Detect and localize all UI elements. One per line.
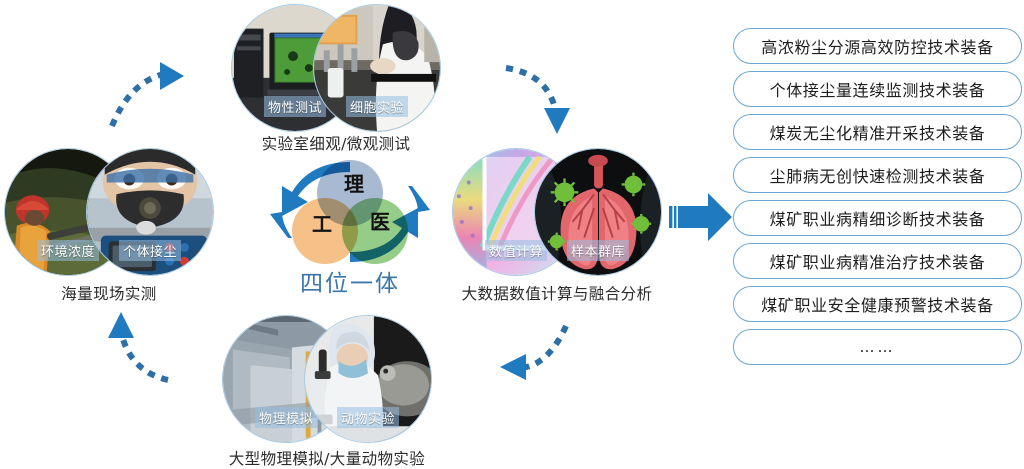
circle-photo-right[interactable]: 细胞实验 bbox=[313, 4, 441, 132]
arrow-lower-right-icon bbox=[492, 314, 612, 404]
cluster-lab-testing: 物性测试 bbox=[231, 4, 441, 134]
cluster-caption: 实验室细观/微观测试 bbox=[186, 132, 486, 154]
photo-pair: 物性测试 bbox=[231, 4, 441, 134]
output-item[interactable]: 煤炭无尘化精准开采技术装备 bbox=[733, 114, 1022, 150]
cluster-tag: 细胞实验 bbox=[346, 96, 408, 117]
cluster-physical-animal: 物理模拟 bbox=[222, 315, 432, 445]
cluster-caption: 大数据数值计算与融合分析 bbox=[407, 282, 707, 304]
cluster-caption: 海量现场实测 bbox=[0, 282, 259, 304]
output-item[interactable]: 煤矿职业安全健康预警技术装备 bbox=[733, 286, 1022, 322]
cluster-tag: 动物实验 bbox=[337, 407, 399, 428]
arrow-upper-right-icon bbox=[500, 58, 610, 146]
cluster-tag: 样本群库 bbox=[567, 240, 629, 261]
big-right-arrow-icon bbox=[668, 188, 734, 246]
output-item[interactable]: 高浓粉尘分源高效防控技术装备 bbox=[733, 28, 1022, 64]
circle-photo-right[interactable]: 动物实验 bbox=[304, 315, 432, 443]
output-item[interactable]: 煤矿职业病精细诊断技术装备 bbox=[733, 200, 1022, 236]
venn-diagram: 理 工 医 bbox=[290, 160, 410, 264]
cluster-tag: 个体接尘 bbox=[119, 240, 181, 261]
output-item[interactable]: 尘肺病无创快速检测技术装备 bbox=[733, 157, 1022, 193]
venn-label-engineering: 工 bbox=[312, 208, 332, 237]
circle-photo-right[interactable]: 个体接尘 bbox=[86, 148, 214, 276]
output-technology-list: 高浓粉尘分源高效防控技术装备 个体接尘量连续监测技术装备 煤炭无尘化精准开采技术… bbox=[733, 28, 1022, 372]
cluster-field-measurement: 环境浓度 bbox=[4, 148, 214, 278]
output-item[interactable]: 个体接尘量连续监测技术装备 bbox=[733, 71, 1022, 107]
center-title: 四位一体 bbox=[268, 264, 432, 298]
diagram-canvas: 环境浓度 bbox=[0, 0, 1024, 457]
output-item[interactable]: 煤矿职业病精准治疗技术装备 bbox=[733, 243, 1022, 279]
arrow-upper-left-icon bbox=[96, 52, 206, 132]
cluster-caption: 大型物理模拟/大量动物实验 bbox=[177, 447, 477, 469]
center-concept: 理 工 医 四位一体 bbox=[268, 160, 432, 296]
photo-pair: 环境浓度 bbox=[4, 148, 214, 278]
output-item-more[interactable]: …… bbox=[733, 329, 1022, 365]
venn-label-medicine: 医 bbox=[370, 206, 390, 235]
cluster-bigdata-analysis: 数值计算 bbox=[452, 148, 662, 278]
circle-photo-right[interactable]: 样本群库 bbox=[534, 148, 662, 276]
venn-label-science: 理 bbox=[344, 168, 364, 197]
photo-pair: 数值计算 bbox=[452, 148, 662, 278]
photo-pair: 物理模拟 bbox=[222, 315, 432, 445]
arrow-lower-left-icon bbox=[92, 304, 212, 396]
